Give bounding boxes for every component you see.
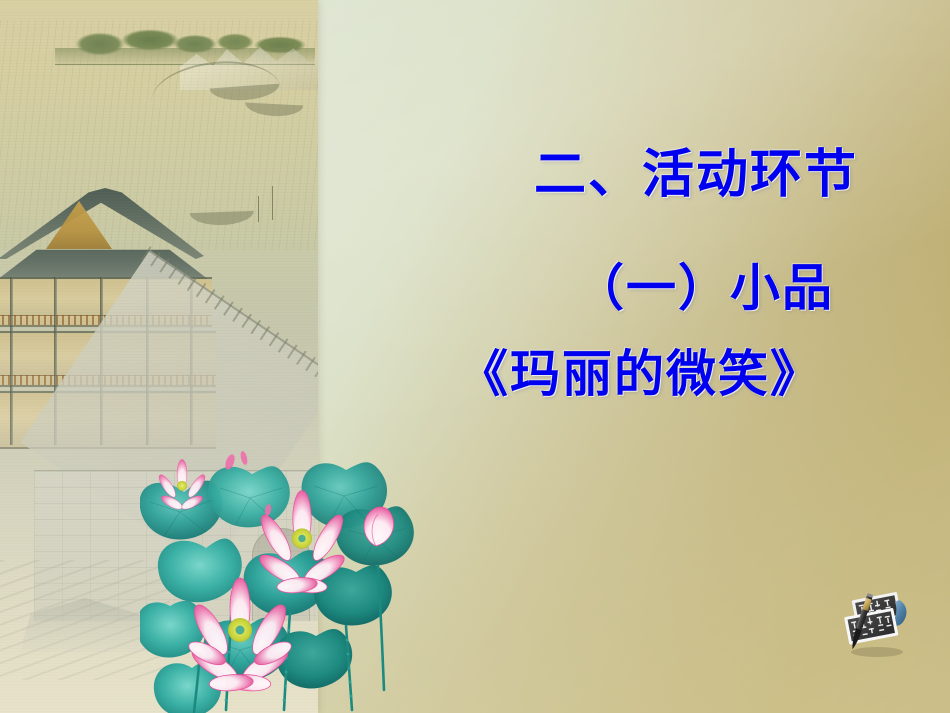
gate-archway bbox=[252, 528, 310, 621]
calligraphy-scroll-svg bbox=[833, 590, 913, 662]
page-title-line-2: （一）小品 bbox=[394, 248, 950, 320]
pavilion-column bbox=[10, 277, 13, 445]
scroll-sheet-front bbox=[844, 608, 898, 645]
page-title-line-1: 二、活动环节 bbox=[386, 132, 950, 207]
presentation-slide: 二、活动环节 （一）小品 《玛丽的微笑》 bbox=[0, 0, 950, 713]
boat-mast bbox=[272, 186, 273, 220]
calligraphy-scroll-icon[interactable] bbox=[833, 590, 913, 662]
chinese-scroll-painting bbox=[0, 0, 318, 713]
boat-mast bbox=[258, 196, 259, 222]
page-title-line-3: 《玛丽的微笑》 bbox=[330, 334, 950, 406]
icon-shadow bbox=[851, 647, 903, 657]
